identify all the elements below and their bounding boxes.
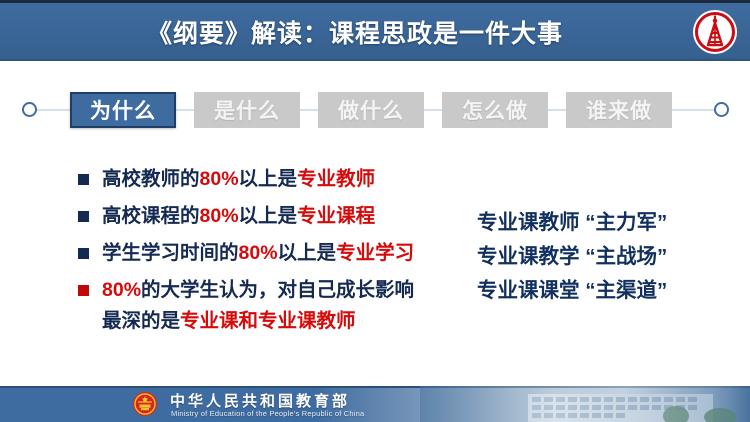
slide-root: 《纲要》解读：课程思政是一件大事 为什么 是什么 做什么 怎么做 谁来做 — [0, 0, 750, 422]
tab-zuoshenme[interactable]: 做什么 — [318, 92, 424, 128]
bullet-seg: 高校教师的 — [102, 168, 200, 190]
bullet-highlight: 专业课程 — [297, 205, 375, 227]
bullet-wrap-line: 最深的是专业课和专业课教师 — [102, 306, 414, 337]
bullet-text: 高校教师的80%以上是专业教师 — [102, 164, 375, 195]
bullet-seg: 的大学生认为，对自己成长影响 — [141, 279, 414, 301]
list-item: 高校教师的80%以上是专业教师 — [78, 164, 478, 195]
bullet-seg: 学生学习时间的 — [102, 242, 239, 264]
bullet-highlight: 80% — [200, 205, 239, 227]
right-column-line: 专业课教师 “主力军” — [477, 206, 667, 240]
china-national-emblem-icon — [132, 391, 158, 417]
bullet-text: 高校课程的80%以上是专业课程 — [102, 201, 375, 232]
list-item: 高校课程的80%以上是专业课程 — [78, 201, 478, 232]
nav-tab-list: 为什么 是什么 做什么 怎么做 谁来做 — [70, 88, 672, 132]
footer-org-name-en: Ministry of Education of the People's Re… — [171, 409, 364, 418]
bullet-square-icon — [78, 248, 89, 259]
bullet-text: 80%的大学生认为，对自己成长影响 最深的是专业课和专业课教师 — [102, 275, 414, 337]
tab-weishenme[interactable]: 为什么 — [70, 92, 176, 128]
bullet-highlight: 专业教师 — [297, 168, 375, 190]
bullet-highlight: 专业课和专业课教师 — [180, 310, 356, 332]
right-column: 专业课教师 “主力军” 专业课教学 “主战场” 专业课课堂 “主渠道” — [477, 206, 667, 308]
footer-branding: 中华人民共和国教育部 Ministry of Education of the … — [0, 386, 750, 422]
footer-org-name-cn: 中华人民共和国教育部 — [170, 390, 350, 411]
tab-sheilaizuo[interactable]: 谁来做 — [566, 92, 672, 128]
bullet-seg: 最深的是 — [102, 310, 180, 332]
list-item: 学生学习时间的80%以上是专业学习 — [78, 238, 478, 269]
bullet-highlight: 80% — [102, 279, 141, 301]
tab-shishenme[interactable]: 是什么 — [194, 92, 300, 128]
bullet-square-icon — [78, 211, 89, 222]
bullet-square-icon-accent — [78, 285, 89, 296]
bullet-square-icon — [78, 174, 89, 185]
bullet-seg: 以上是 — [278, 242, 337, 264]
red-circular-tower-emblem-icon — [692, 9, 738, 55]
right-column-line: 专业课教学 “主战场” — [477, 240, 667, 274]
tab-zenmezuo[interactable]: 怎么做 — [442, 92, 548, 128]
slide-header: 《纲要》解读：课程思政是一件大事 — [0, 3, 750, 61]
bullet-text: 学生学习时间的80%以上是专业学习 — [102, 238, 414, 269]
circle-endcap-icon-right — [714, 102, 729, 117]
nav-steps: 为什么 是什么 做什么 怎么做 谁来做 — [0, 88, 750, 132]
page-title: 《纲要》解读：课程思政是一件大事 — [0, 3, 750, 61]
slide-body: 高校教师的80%以上是专业教师 高校课程的80%以上是专业课程 学生学习时间的8… — [0, 150, 750, 365]
bullet-seg: 高校课程的 — [102, 205, 200, 227]
bullet-highlight: 80% — [200, 168, 239, 190]
right-column-line: 专业课课堂 “主渠道” — [477, 274, 667, 308]
list-item: 80%的大学生认为，对自己成长影响 最深的是专业课和专业课教师 — [78, 275, 478, 337]
bullet-seg: 以上是 — [239, 205, 298, 227]
bullet-list: 高校教师的80%以上是专业教师 高校课程的80%以上是专业课程 学生学习时间的8… — [78, 164, 478, 343]
circle-endcap-icon-left — [22, 102, 37, 117]
slide-footer: 中华人民共和国教育部 Ministry of Education of the … — [0, 386, 750, 422]
bullet-seg: 以上是 — [239, 168, 298, 190]
bullet-highlight: 专业学习 — [336, 242, 414, 264]
bullet-highlight: 80% — [239, 242, 278, 264]
